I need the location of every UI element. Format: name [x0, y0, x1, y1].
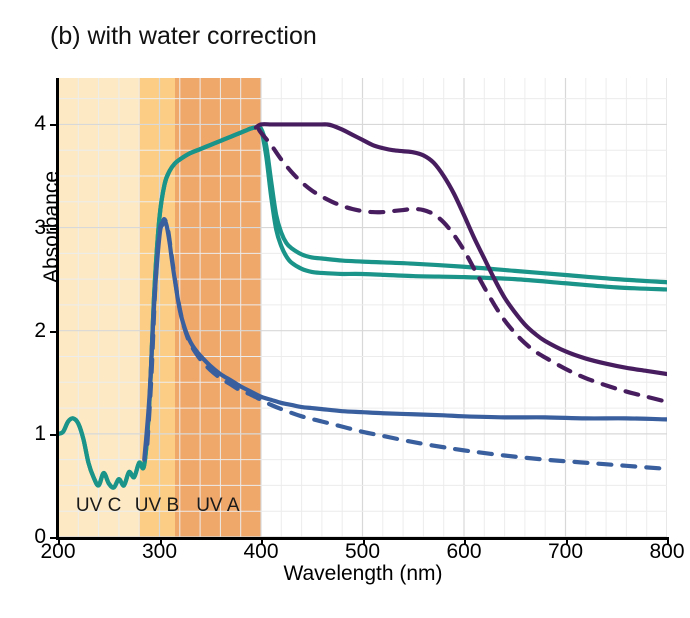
y-tick-mark-2	[50, 331, 58, 333]
x-tick-mark-600	[464, 537, 466, 544]
x-tick-mark-300	[160, 537, 162, 544]
x-tick-mark-400	[261, 537, 263, 544]
y-tick-label-3: 3	[12, 216, 46, 240]
x-tick-mark-700	[566, 537, 568, 544]
y-tick-mark-1	[50, 434, 58, 436]
y-tick-label-1: 1	[12, 422, 46, 446]
figure-panel: (b) with water correction Absorbance Wav…	[0, 0, 690, 618]
y-tick-mark-3	[50, 228, 58, 230]
panel-title: (b) with water correction	[50, 22, 317, 51]
uv-band-label-uv-b: UV B	[135, 495, 179, 517]
x-tick-mark-200	[58, 537, 60, 544]
x-tick-mark-500	[363, 537, 365, 544]
y-tick-mark-4	[50, 124, 58, 126]
curve-blue-solid	[144, 221, 667, 459]
uv-band-label-uv-c: UV C	[76, 495, 121, 517]
uv-band-label-uv-a: UV A	[196, 495, 239, 517]
y-tick-label-4: 4	[12, 112, 46, 136]
plot-area	[58, 78, 667, 537]
y-axis-ticks: 01234	[0, 0, 46, 618]
y-axis-line	[56, 78, 59, 539]
data-curves	[58, 78, 667, 537]
x-tick-mark-800	[667, 537, 669, 544]
y-tick-mark-0	[50, 537, 58, 539]
curve-blue-dashed	[147, 219, 667, 469]
x-axis-label: Wavelength (nm)	[58, 562, 668, 586]
y-tick-label-2: 2	[12, 319, 46, 343]
